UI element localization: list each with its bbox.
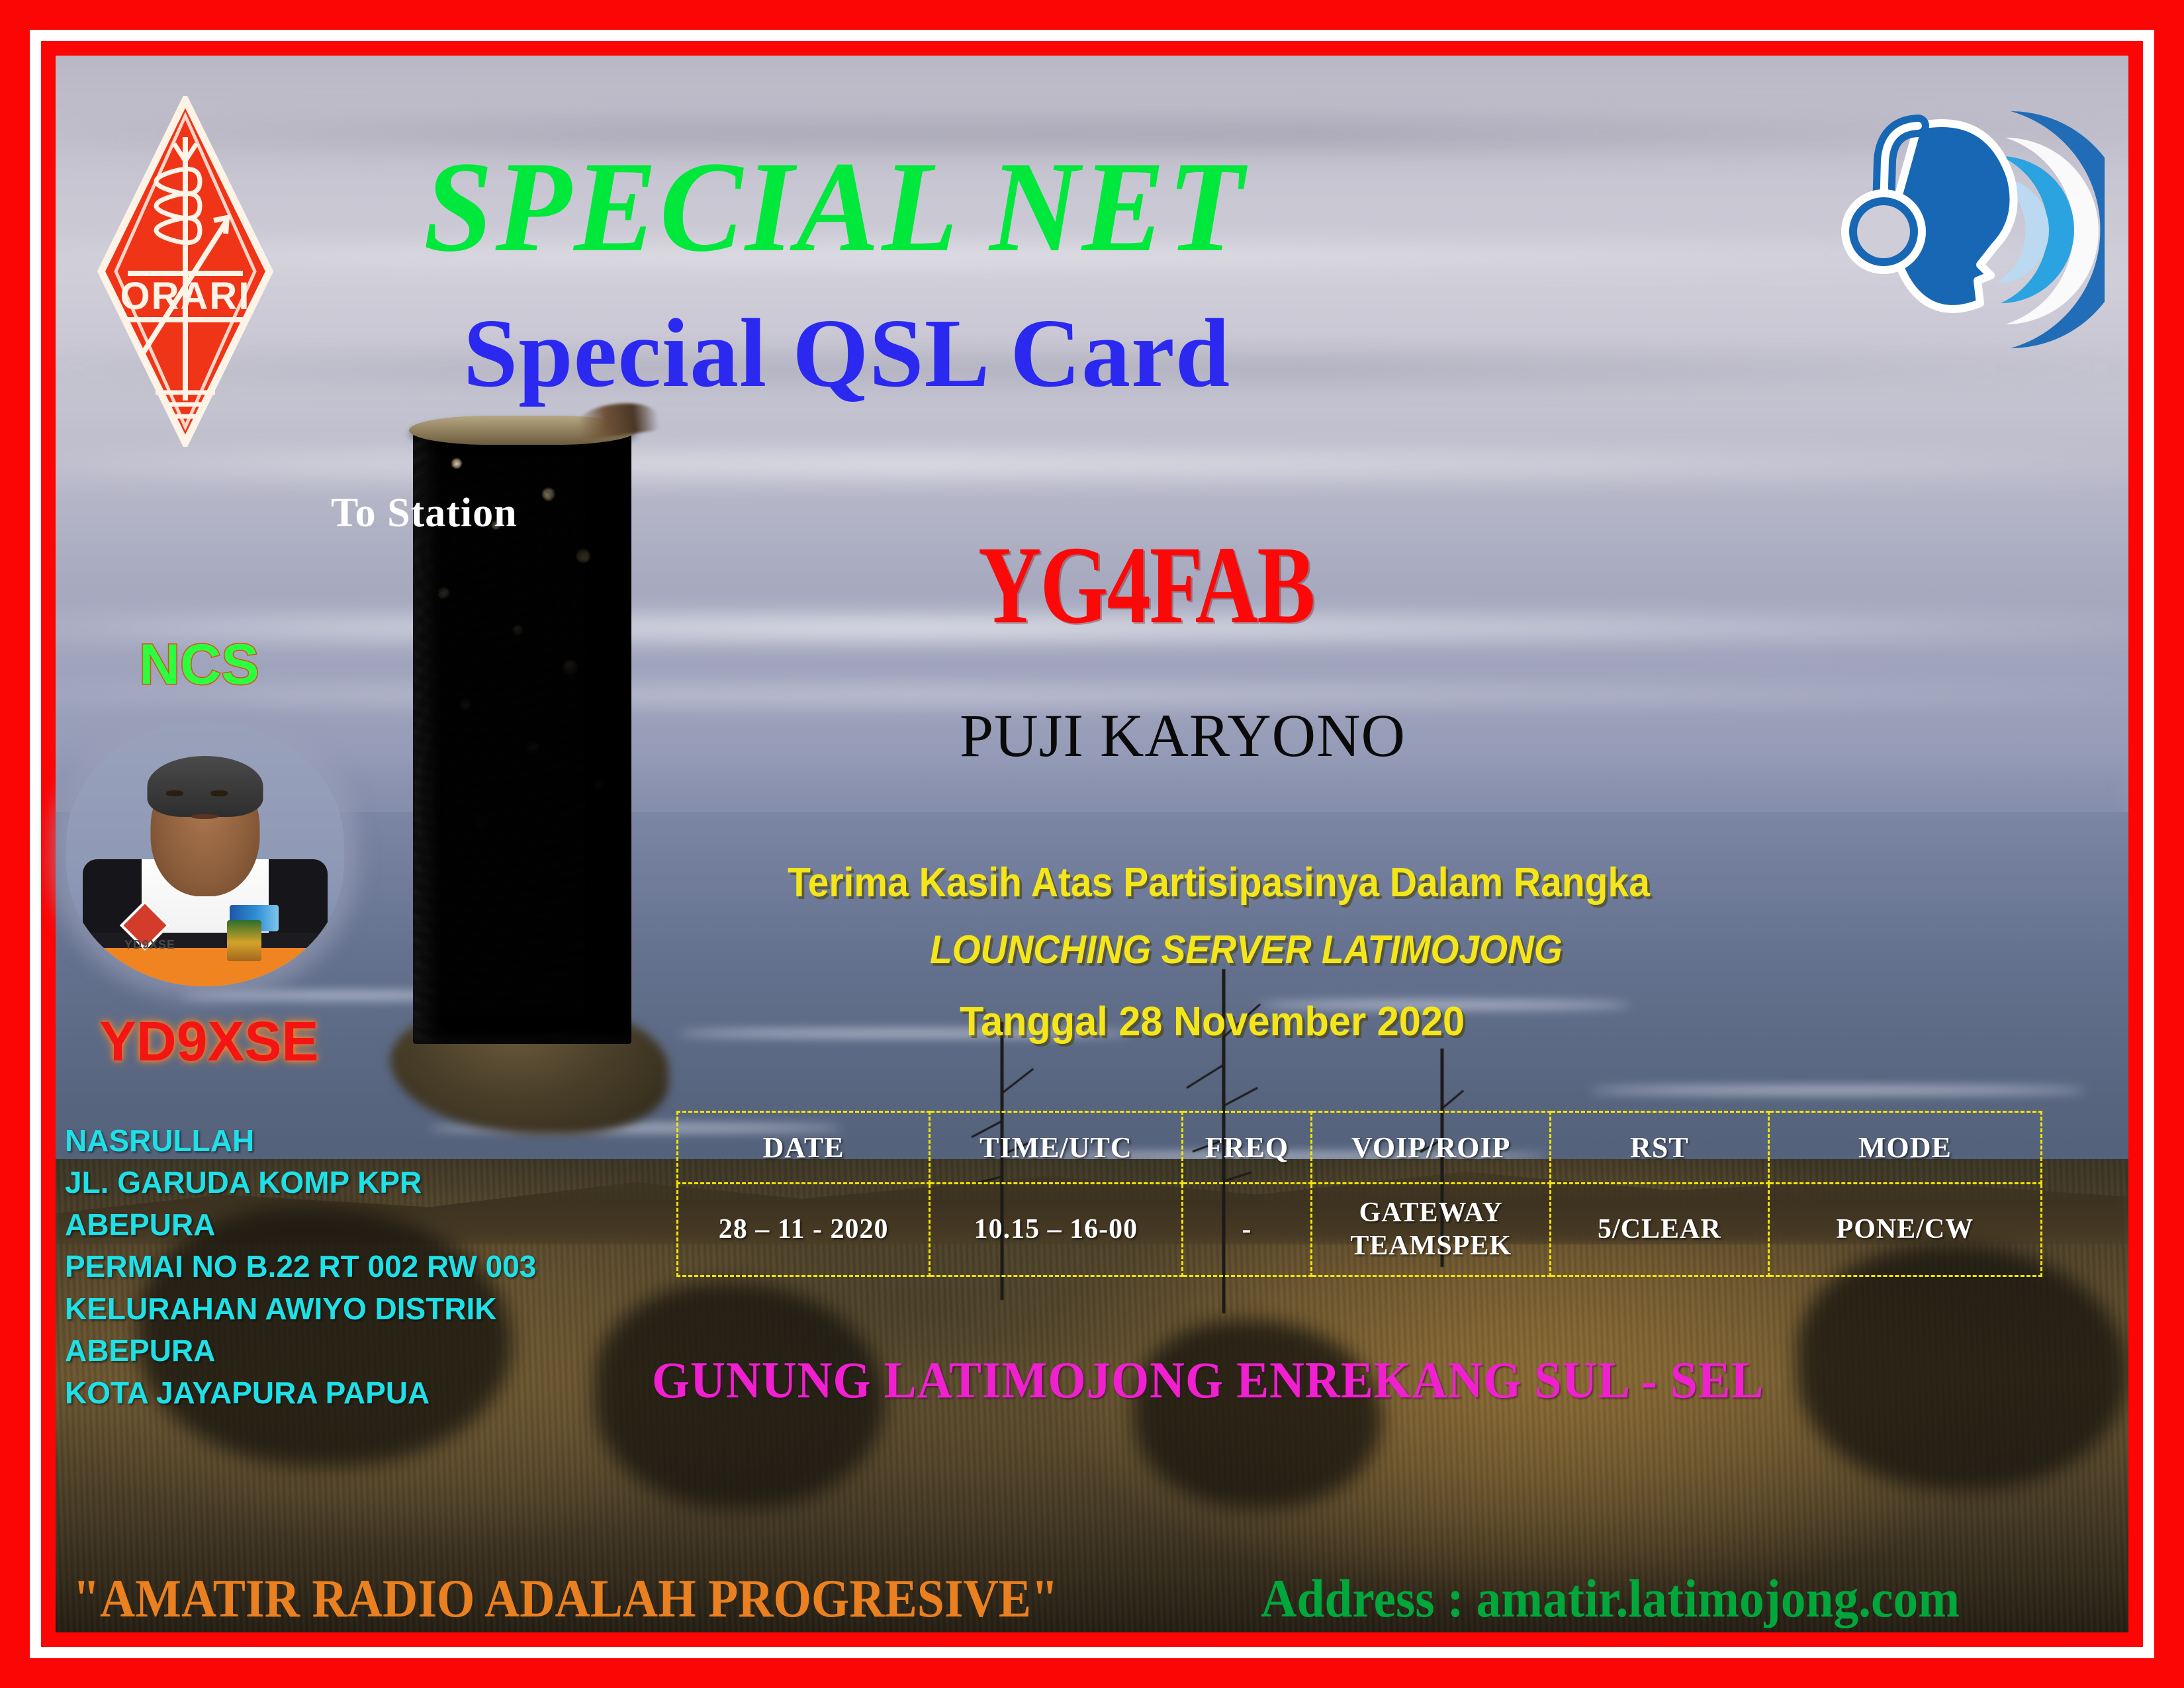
table-header-voip-roip: VOIP/ROIP (1312, 1112, 1551, 1184)
thanks-line-3: Tanggal 28 November 2020 (960, 998, 1465, 1045)
table-cell-time: 10.15 – 16-00 (930, 1184, 1182, 1276)
address-line: PERMAI NO B.22 RT 002 RW 003 (65, 1246, 536, 1288)
table-cell-voip-roip: GATEWAY TEAMSPEK (1312, 1184, 1551, 1276)
table-cell-rst: 5/CLEAR (1551, 1184, 1769, 1276)
address-line: JL. GARUDA KOMP KPR (65, 1162, 536, 1203)
table-header-row: DATE TIME/UTC FREQ VOIP/ROIP RST MODE (678, 1112, 2042, 1184)
table-header-mode: MODE (1768, 1112, 2041, 1184)
voip-line-2: TEAMSPEK (1350, 1231, 1512, 1261)
address-line: KELURAHAN AWIYO DISTRIK (65, 1288, 536, 1330)
address-line: ABEPURA (65, 1204, 536, 1246)
table-header-freq: FREQ (1182, 1112, 1312, 1184)
table-row: 28 – 11 - 2020 10.15 – 16-00 - GATEWAY T… (678, 1184, 2042, 1276)
to-station-callsign: YG4FAB (978, 530, 1314, 641)
voip-line-1: GATEWAY (1359, 1197, 1503, 1228)
ncs-callsign: YD9XSE (99, 1009, 319, 1074)
table-cell-freq: - (1182, 1184, 1312, 1276)
to-station-label: To Station (331, 490, 518, 537)
table-cell-mode: PONE/CW (1768, 1184, 2041, 1276)
table-header-date: DATE (678, 1112, 930, 1184)
qso-details-table: DATE TIME/UTC FREQ VOIP/ROIP RST MODE 28… (676, 1111, 2042, 1277)
avatar-uniform-callsign: YD9XSE (124, 938, 175, 952)
ncs-label: NCS (139, 632, 259, 698)
headphone-profile-logo (1840, 99, 2105, 357)
motto-text: "AMATIR RADIO ADALAH PROGRESIVE" (73, 1568, 1058, 1630)
content-layer: ORARI SPECIAL NET Special QSL C (0, 0, 2184, 1688)
qsl-card: ORARI SPECIAL NET Special QSL C (0, 0, 2184, 1688)
table-header-rst: RST (1551, 1112, 1769, 1184)
address-line: NASRULLAH (65, 1120, 536, 1162)
page-title-special-net: SPECIAL NET (424, 142, 1246, 272)
orari-logo-text: ORARI (120, 275, 251, 318)
table-cell-date: 28 – 11 - 2020 (678, 1184, 930, 1276)
ncs-address-block: NASRULLAH JL. GARUDA KOMP KPR ABEPURA PE… (65, 1120, 536, 1414)
address-line: ABEPURA (65, 1330, 536, 1372)
thanks-line-1: Terima Kasih Atas Partisipasinya Dalam R… (788, 859, 1650, 906)
web-address: Address : amatir.latimojong.com (1261, 1568, 1960, 1630)
table-header-time: TIME/UTC (930, 1112, 1182, 1184)
operator-name: PUJI KARYONO (960, 705, 1406, 766)
ncs-operator-avatar: YD9XSE (66, 722, 344, 986)
page-subtitle-qsl-card: Special QSL Card (463, 305, 1230, 402)
orari-diamond-logo: ORARI (96, 96, 275, 447)
location-line: GUNUNG LATIMOJONG ENREKANG SUL - SEL (652, 1350, 1764, 1410)
address-line: KOTA JAYAPURA PAPUA (65, 1372, 536, 1414)
thanks-line-2: LOUNCHING SERVER LATIMOJONG (930, 927, 1563, 972)
